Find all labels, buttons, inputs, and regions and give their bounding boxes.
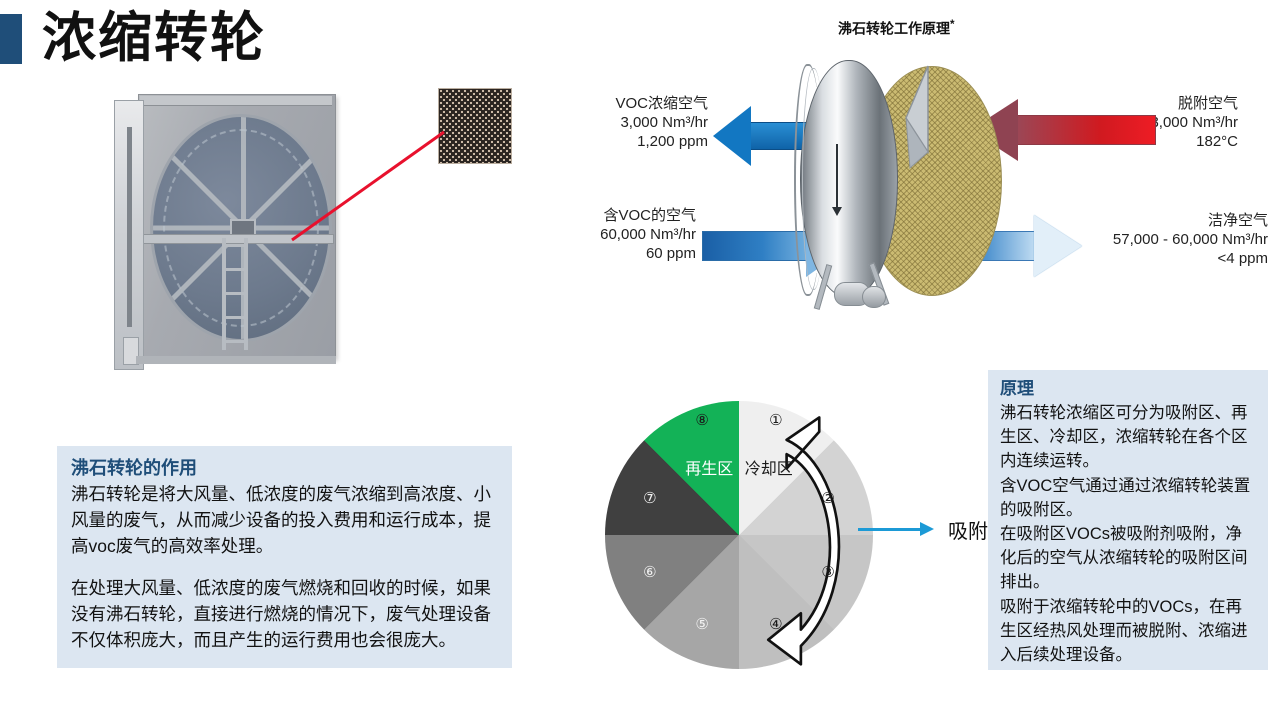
- label-voc-out-name: VOC浓缩空气: [546, 94, 708, 113]
- rotor-drive-pulley: [862, 286, 886, 308]
- pie-slice-number-5: ⑤: [695, 615, 708, 633]
- pie-slice-number-4: ④: [769, 615, 782, 633]
- principle-paragraph-3: 在吸附区VOCs被吸附剂吸附，净化后的空气从浓缩转轮的吸附区间排出。: [1000, 522, 1258, 595]
- pie-slice-number-1: ①: [769, 411, 782, 429]
- title-accent-bar: [0, 14, 22, 64]
- photo-control-panel: [114, 100, 144, 370]
- photo-frame-top: [140, 96, 332, 106]
- principle-textbox: 原理 沸石转轮浓缩区可分为吸附区、再生区、冷却区，浓缩转轮在各个区内连续运转。 …: [988, 370, 1268, 670]
- pie-zone-label-8: 再生区: [685, 455, 733, 479]
- rotation-direction-arrow-icon: [836, 144, 838, 208]
- label-voc-in-conc: 60 ppm: [528, 244, 696, 263]
- photo-ladder: [222, 238, 248, 350]
- principle-paragraph-2: 含VOC空气通过通过浓缩转轮装置的吸附区。: [1000, 474, 1258, 522]
- pie-zone-label-1: 冷却区: [745, 455, 793, 479]
- label-voc-in-name: 含VOC的空气: [528, 206, 696, 225]
- pie-slice-number-3: ③: [821, 563, 834, 581]
- slide-canvas: 浓缩转轮 沸石转轮工作原理*: [0, 0, 1280, 720]
- zone-wheel-chart: 吸附区 ①冷却区②③④⑤⑥⑦⑧再生区: [540, 395, 960, 675]
- diagram-title-text: 沸石转轮工作原理: [838, 21, 950, 37]
- rotor-illustration: [790, 48, 1010, 310]
- label-clean-out-flow: 57,000 - 60,000 Nm³/hr: [1062, 230, 1268, 249]
- role-paragraph-gap: [71, 559, 498, 575]
- principle-paragraph-1: 沸石转轮浓缩区可分为吸附区、再生区、冷却区，浓缩转轮在各个区内连续运转。: [1000, 401, 1258, 474]
- label-clean-out-name: 洁净空气: [1062, 211, 1268, 230]
- label-voc-in: 含VOC的空气 60,000 Nm³/hr 60 ppm: [528, 206, 696, 263]
- role-heading: 沸石转轮的作用: [71, 456, 498, 480]
- honeycomb-media-closeup: [438, 88, 512, 164]
- principle-heading: 原理: [1000, 378, 1258, 400]
- role-textbox: 沸石转轮的作用 沸石转轮是将大风量、低浓度的废气浓缩到高浓度、小风量的废气，从而…: [57, 446, 512, 668]
- principle-paragraph-4: 吸附于浓缩转轮中的VOCs，在再生区经热风处理而被脱附、浓缩进入后续处理设备。: [1000, 595, 1258, 668]
- pie-slice-number-2: ②: [821, 489, 834, 507]
- rotor-rim-inner: [802, 68, 825, 290]
- label-voc-out-conc: 1,200 ppm: [546, 132, 708, 151]
- pie-slice-number-6: ⑥: [643, 563, 656, 581]
- diagram-title-superscript: *: [950, 18, 955, 31]
- label-clean-out: 洁净空气 57,000 - 60,000 Nm³/hr <4 ppm: [1062, 211, 1268, 268]
- pie-slice-number-8: ⑧: [695, 411, 708, 429]
- pie-slice-number-7: ⑦: [643, 489, 656, 507]
- role-paragraph-2: 在处理大风量、低浓度的废气燃烧和回收的时候，如果没有沸石转轮，直接进行燃烧的情况…: [71, 575, 498, 653]
- label-clean-out-conc: <4 ppm: [1062, 249, 1268, 268]
- diagram-title: 沸石转轮工作原理*: [838, 18, 955, 39]
- label-voc-in-flow: 60,000 Nm³/hr: [528, 225, 696, 244]
- page-title: 浓缩转轮: [42, 4, 266, 72]
- role-paragraph-1: 沸石转轮是将大风量、低浓度的废气浓缩到高浓度、小风量的废气，从而减少设备的投入费…: [71, 481, 498, 559]
- equipment-photo: [112, 86, 344, 376]
- photo-base: [136, 356, 336, 364]
- adsorption-zone-pointer-arrow: [858, 520, 944, 540]
- label-voc-out-flow: 3,000 Nm³/hr: [546, 113, 708, 132]
- label-voc-out: VOC浓缩空气 3,000 Nm³/hr 1,200 ppm: [546, 94, 708, 151]
